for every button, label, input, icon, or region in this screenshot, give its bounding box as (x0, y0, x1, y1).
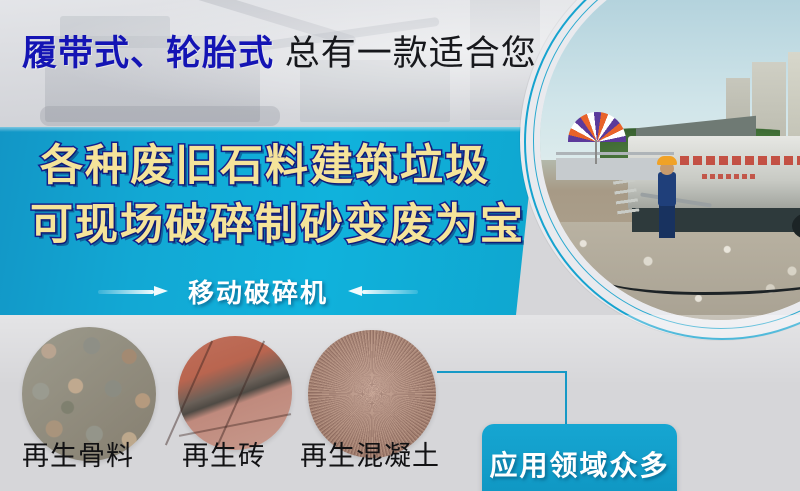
photo-worker-helmet (657, 156, 677, 165)
photo-machine-red-subtext (702, 174, 758, 179)
headline-normal: 总有一款适合您 (285, 34, 537, 73)
photo-worker-legs (659, 204, 675, 238)
product-label-1: 再生骨料 (22, 434, 134, 473)
promo-poster: 履带式、轮胎式 总有一款适合您 各种废旧石料建筑垃圾 可现场破碎制砂变废为宝 移… (0, 0, 800, 491)
photo-worker-body (658, 172, 676, 206)
connector-horizontal (437, 371, 567, 373)
top-headline: 履带式、轮胎式 总有一款适合您 (22, 36, 537, 71)
photo-machine-chassis (632, 208, 800, 232)
product-list: 再生骨料 再生砖 再生混凝土 (0, 322, 470, 491)
product-label-2: 再生砖 (182, 434, 266, 473)
product-image-brick (178, 336, 292, 450)
product-item-2 (178, 336, 292, 450)
arrow-pointing-right-icon (98, 286, 170, 296)
product-label-3: 再生混凝土 (300, 434, 440, 473)
photo-machine-red-text (680, 156, 800, 165)
banner-line-1: 各种废旧石料建筑垃圾 (40, 145, 490, 188)
photo-railing (556, 152, 674, 155)
photo-content (540, 0, 800, 320)
application-badge: 应用领域众多 (482, 424, 677, 491)
circular-photo (520, 0, 800, 340)
arrow-pointing-left-icon (346, 286, 418, 296)
application-badge-label: 应用领域众多 (489, 444, 669, 484)
photo-umbrella-pole (595, 140, 597, 164)
photo-hose (600, 252, 800, 295)
banner-subtitle-row: 移动破碎机 (0, 272, 516, 310)
headline-highlight: 履带式、轮胎式 (22, 34, 274, 73)
banner-line-2: 可现场破碎制砂变废为宝 (30, 204, 525, 247)
banner-subtitle: 移动破碎机 (188, 273, 328, 310)
